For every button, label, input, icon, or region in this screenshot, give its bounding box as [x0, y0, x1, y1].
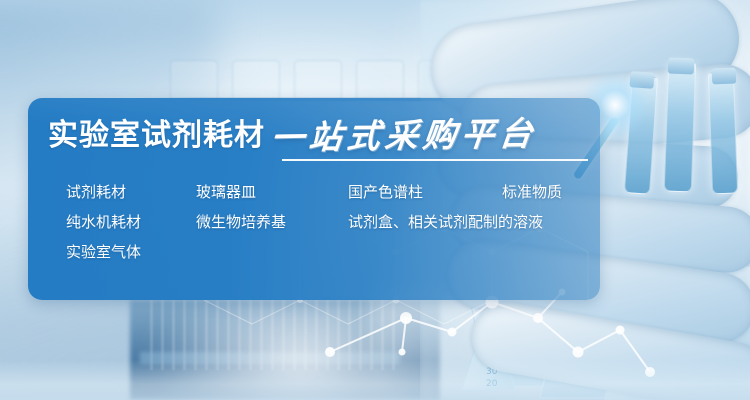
category-item-glassware[interactable]: 玻璃器皿 — [196, 178, 256, 208]
page-title-brush: 一站式采购平台 — [269, 114, 540, 159]
title-underline — [282, 159, 588, 161]
category-list: 试剂耗材 玻璃器皿 国产色谱柱 标准物质 纯水机耗材 微生物培养基 试剂盒、相关… — [36, 178, 596, 268]
category-item-domestic-chromatography-column[interactable]: 国产色谱柱 — [348, 178, 423, 208]
category-item-reagent-kits-solutions[interactable]: 试剂盒、相关试剂配制的溶液 — [348, 208, 543, 238]
category-row-3: 实验室气体 — [36, 238, 596, 268]
promo-banner: ⌀7⊞ GG-17 0ml 50 40 30 20 — [0, 0, 750, 400]
category-item-microbial-culture-media[interactable]: 微生物培养基 — [196, 208, 286, 238]
category-item-water-purifier-consumables[interactable]: 纯水机耗材 — [66, 208, 141, 238]
category-row-1: 试剂耗材 玻璃器皿 国产色谱柱 标准物质 — [36, 178, 596, 208]
page-title-main: 实验室试剂耗材 — [48, 116, 265, 156]
category-item-laboratory-gases[interactable]: 实验室气体 — [66, 238, 141, 268]
category-item-reference-materials[interactable]: 标准物质 — [502, 178, 562, 208]
category-row-2: 纯水机耗材 微生物培养基 试剂盒、相关试剂配制的溶液 — [36, 208, 596, 238]
category-item-reagent-consumables[interactable]: 试剂耗材 — [66, 178, 126, 208]
promo-panel: 实验室试剂耗材 一站式采购平台 试剂耗材 玻璃器皿 国产色谱柱 标准物质 纯水机… — [28, 98, 600, 300]
banner-title: 实验室试剂耗材 一站式采购平台 — [48, 116, 537, 156]
